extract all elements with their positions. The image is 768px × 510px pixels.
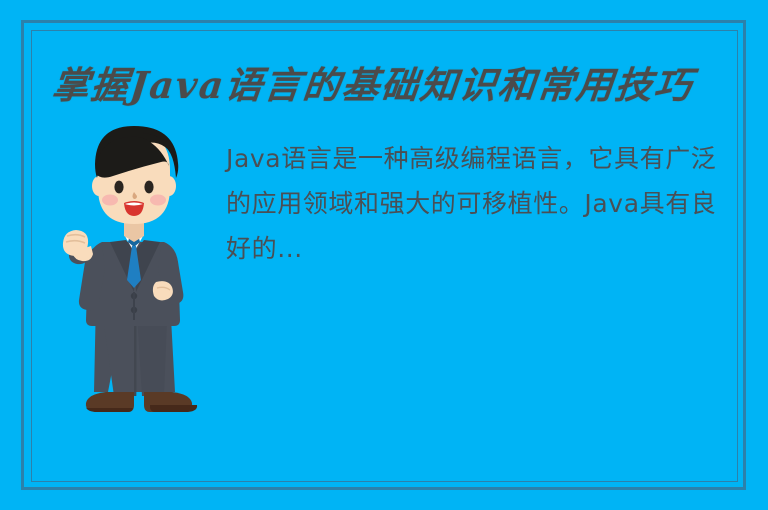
body-paragraph: Java语言是一种高级编程语言，它具有广泛的应用领域和强大的可移植性。Java具… <box>226 136 741 271</box>
businessman-illustration <box>48 124 218 424</box>
page-title: 掌握Java语言的基础知识和常用技巧 <box>49 62 714 112</box>
poster-canvas: 掌握Java语言的基础知识和常用技巧 Java语言是一种高级编程语言，它具有广泛… <box>0 0 768 510</box>
